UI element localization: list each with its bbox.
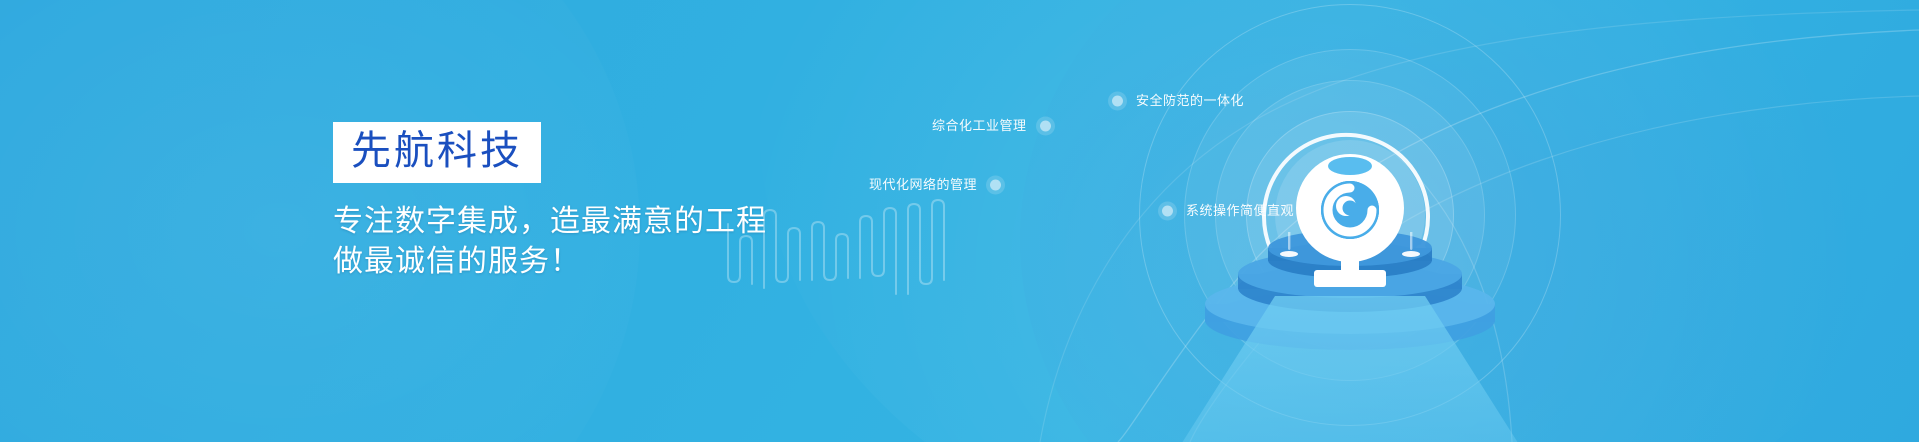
brand-title: 先航科技 — [351, 129, 523, 173]
security-camera-icon — [1284, 148, 1416, 298]
feature-label-network[interactable]: 现代化网络的管理 — [869, 177, 977, 193]
hero-subtitle-line-1: 专注数字集成，造最满意的工程 — [333, 202, 767, 242]
feature-dot-icon — [1112, 96, 1123, 107]
brand-title-box: 先航科技 — [333, 122, 541, 183]
feature-label-industry-text: 综合化工业管理 — [932, 118, 1027, 133]
feature-dot-icon — [1040, 121, 1051, 132]
feature-label-operation-text: 系统操作简便直观 — [1186, 203, 1294, 218]
hero-graphic — [1100, 0, 1600, 442]
hero-subtitle-line-2: 做最诚信的服务！ — [333, 242, 767, 282]
feature-label-security[interactable]: 安全防范的一体化 — [1136, 93, 1244, 109]
feature-label-industry[interactable]: 综合化工业管理 — [932, 118, 1027, 134]
decorative-arc-lines — [0, 0, 1919, 442]
feature-dot-icon — [990, 180, 1001, 191]
waveform-decoration — [722, 180, 952, 300]
hero-subtitle: 专注数字集成，造最满意的工程 做最诚信的服务！ — [333, 202, 767, 282]
feature-label-network-text: 现代化网络的管理 — [869, 177, 977, 192]
light-beam — [1140, 296, 1560, 442]
feature-label-operation[interactable]: 系统操作简便直观 — [1186, 203, 1294, 219]
feature-label-security-text: 安全防范的一体化 — [1136, 93, 1244, 108]
feature-dot-icon — [1162, 206, 1173, 217]
hero-banner: 先航科技 专注数字集成，造最满意的工程 做最诚信的服务！ — [0, 0, 1919, 442]
hero-text-block: 先航科技 专注数字集成，造最满意的工程 做最诚信的服务！ — [333, 122, 767, 282]
